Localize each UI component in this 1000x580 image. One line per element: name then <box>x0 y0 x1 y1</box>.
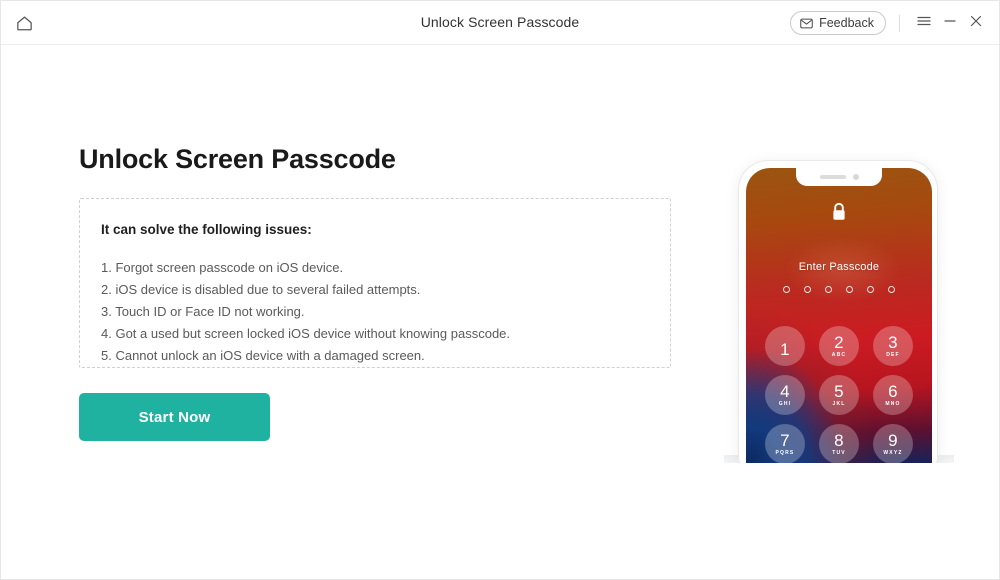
list-item: 5. Cannot unlock an iOS device with a da… <box>101 345 510 367</box>
passcode-dot <box>867 286 874 293</box>
close-button[interactable] <box>963 10 989 36</box>
keypad-key-9[interactable]: 9 WXYZ <box>873 424 913 464</box>
keypad-key-8[interactable]: 8 TUV <box>819 424 859 464</box>
key-number: 6 <box>888 383 898 400</box>
key-letters: DEF <box>886 352 900 359</box>
phone-notch <box>796 168 882 186</box>
minimize-icon <box>942 13 958 34</box>
passcode-dot <box>804 286 811 293</box>
key-number: 1 <box>780 341 790 358</box>
phone-frame: Enter Passcode 1 2 <box>738 160 938 465</box>
keypad-key-6[interactable]: 6 MNO <box>873 375 913 415</box>
home-button[interactable] <box>9 8 39 38</box>
key-number: 4 <box>780 383 790 400</box>
keypad-key-7[interactable]: 7 PQRS <box>765 424 805 464</box>
hamburger-menu-button[interactable] <box>911 10 937 36</box>
keypad-key-5[interactable]: 5 JKL <box>819 375 859 415</box>
enter-passcode-label: Enter Passcode <box>746 261 932 273</box>
speaker-grille-icon <box>820 175 846 179</box>
app-window: Unlock Screen Passcode Feedback <box>0 0 1000 580</box>
passcode-dots <box>746 286 932 293</box>
start-now-button[interactable]: Start Now <box>79 393 270 441</box>
feedback-label: Feedback <box>819 16 874 30</box>
issues-list: 1. Forgot screen passcode on iOS device.… <box>101 257 510 367</box>
front-camera-icon <box>853 174 859 180</box>
key-number: 5 <box>834 383 844 400</box>
padlock-icon <box>831 202 847 227</box>
key-number: 2 <box>834 334 844 351</box>
close-icon <box>968 13 984 34</box>
key-letters: MNO <box>885 401 900 408</box>
keypad-key-3[interactable]: 3 DEF <box>873 326 913 366</box>
key-letters: WXYZ <box>883 450 902 457</box>
keypad-key-4[interactable]: 4 GHI <box>765 375 805 415</box>
titlebar-controls: Feedback <box>790 1 989 45</box>
page-title: Unlock Screen Passcode <box>79 144 396 175</box>
minimize-button[interactable] <box>937 10 963 36</box>
key-number: 8 <box>834 432 844 449</box>
key-letters: PQRS <box>776 450 795 457</box>
key-letters: JKL <box>832 401 845 408</box>
home-icon <box>15 14 34 33</box>
key-letters: GHI <box>779 401 792 408</box>
keypad-key-1[interactable]: 1 <box>765 326 805 366</box>
hamburger-menu-icon <box>916 13 932 34</box>
key-number: 9 <box>888 432 898 449</box>
list-item: 1. Forgot screen passcode on iOS device. <box>101 257 510 279</box>
issues-panel-title: It can solve the following issues: <box>101 222 312 237</box>
passcode-dot <box>846 286 853 293</box>
phone-illustration: Enter Passcode 1 2 <box>724 115 954 485</box>
main-content: Unlock Screen Passcode It can solve the … <box>1 45 999 580</box>
phone-screen: Enter Passcode 1 2 <box>746 168 932 465</box>
key-letters: ABC <box>832 352 846 359</box>
passcode-dot <box>888 286 895 293</box>
list-item: 4. Got a used but screen locked iOS devi… <box>101 323 510 345</box>
issues-panel: It can solve the following issues: 1. Fo… <box>79 198 671 368</box>
envelope-icon <box>800 18 813 29</box>
key-number: 3 <box>888 334 898 351</box>
keypad-key-2[interactable]: 2 ABC <box>819 326 859 366</box>
passcode-dot <box>783 286 790 293</box>
key-number: 7 <box>780 432 790 449</box>
titlebar-divider <box>899 15 900 32</box>
passcode-keypad: 1 2 ABC 3 DEF 4 GHI <box>758 326 920 465</box>
key-letters: TUV <box>832 450 846 457</box>
passcode-dot <box>825 286 832 293</box>
list-item: 3. Touch ID or Face ID not working. <box>101 301 510 323</box>
list-item: 2. iOS device is disabled due to several… <box>101 279 510 301</box>
feedback-button[interactable]: Feedback <box>790 11 886 35</box>
phone-bottom-mask <box>724 463 954 485</box>
title-bar: Unlock Screen Passcode Feedback <box>1 1 999 45</box>
